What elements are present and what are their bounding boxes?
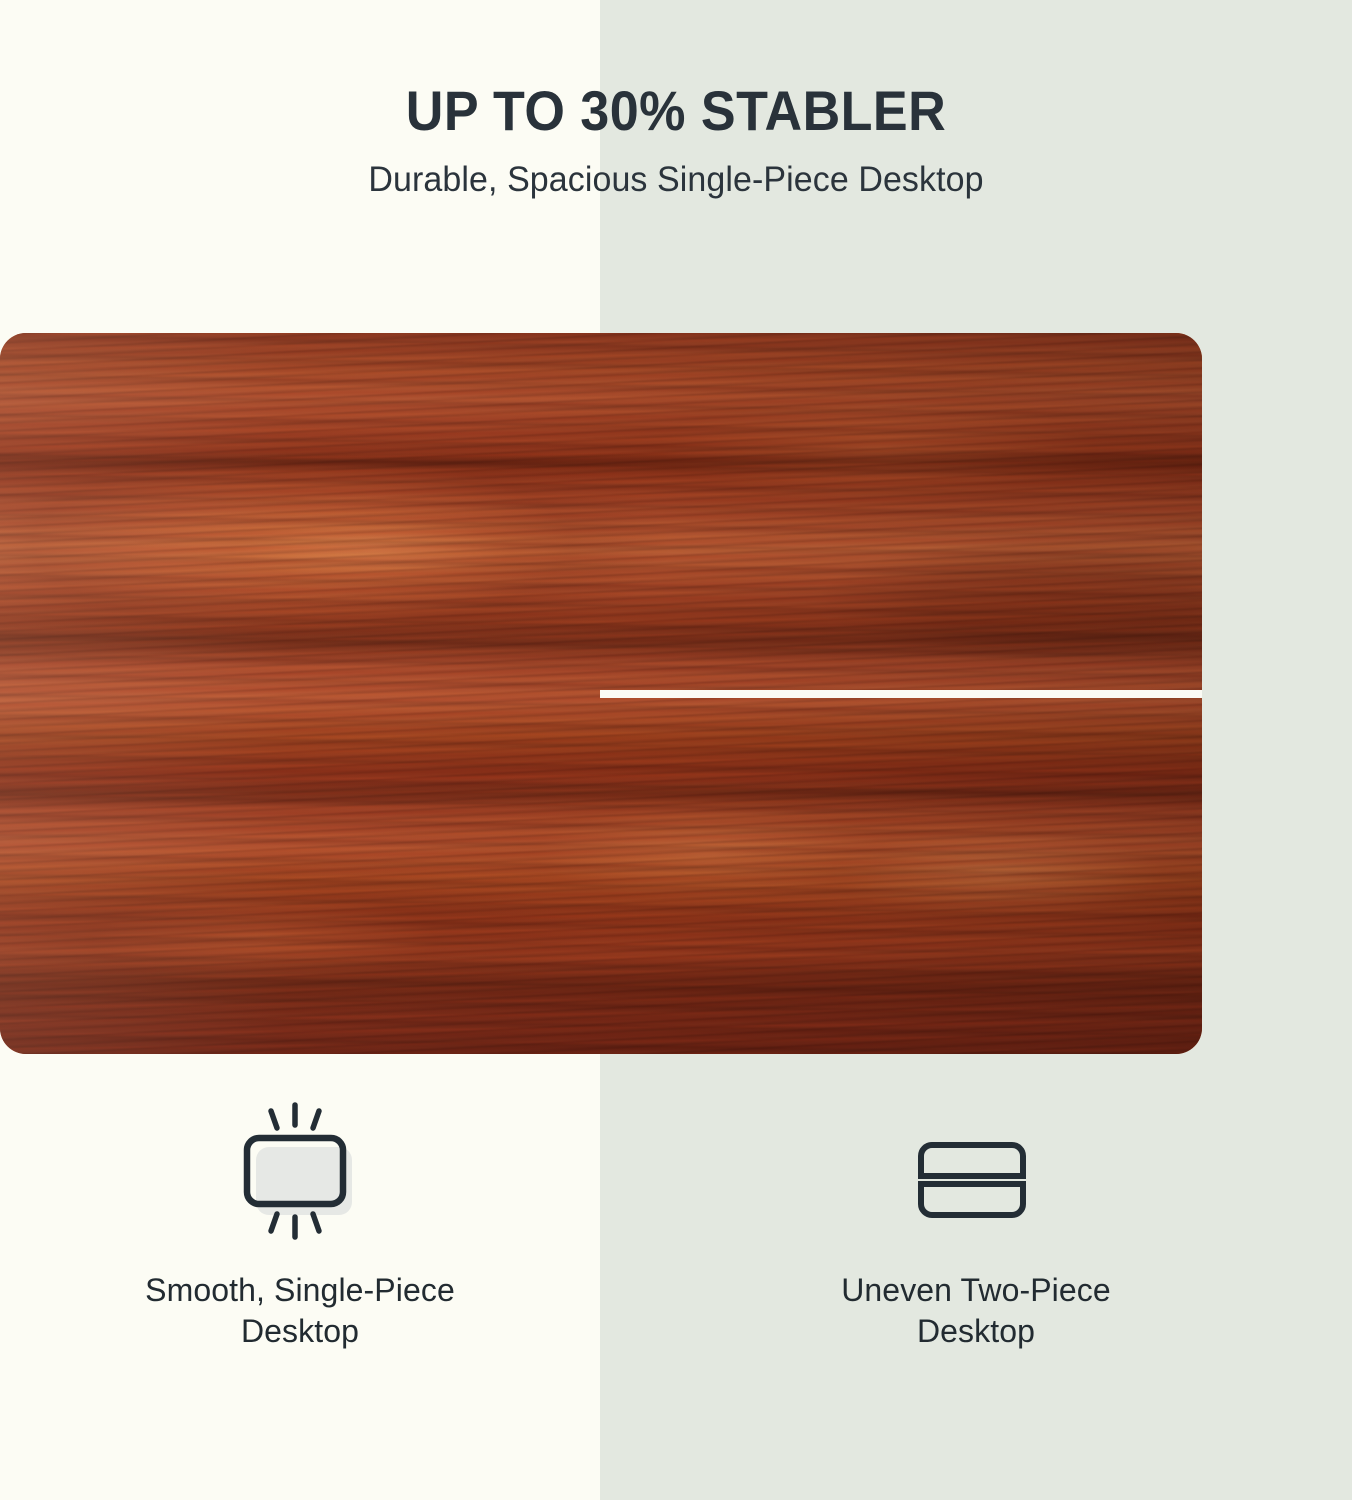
two-piece-desktop-seam-gap [600, 690, 1202, 698]
comparison-label-line1: Smooth, Single-Piece [145, 1272, 455, 1308]
page-subtitle: Durable, Spacious Single-Piece Desktop [20, 161, 1331, 200]
comparison-label-line1: Uneven Two-Piece [841, 1272, 1111, 1308]
comparison-row: Smooth, Single-Piece Desktop Uneven Two-… [0, 1100, 1352, 1500]
page-title: UP TO 30% STABLER [47, 82, 1304, 139]
comparison-item-single-piece: Smooth, Single-Piece Desktop [0, 1100, 600, 1500]
comparison-label-single-piece: Smooth, Single-Piece Desktop [145, 1270, 455, 1352]
uneven-two-piece-desktop-icon [600, 1100, 1352, 1250]
comparison-label-line2: Desktop [917, 1313, 1035, 1349]
comparison-label-two-piece: Uneven Two-Piece Desktop [841, 1270, 1111, 1352]
smooth-single-piece-desktop-icon [0, 1100, 600, 1250]
header: UP TO 30% STABLER Durable, Spacious Sing… [0, 0, 1352, 200]
promo-banner: UP TO 30% STABLER Durable, Spacious Sing… [0, 0, 1352, 1500]
comparison-label-line2: Desktop [241, 1313, 359, 1349]
comparison-item-two-piece: Uneven Two-Piece Desktop [600, 1100, 1352, 1500]
